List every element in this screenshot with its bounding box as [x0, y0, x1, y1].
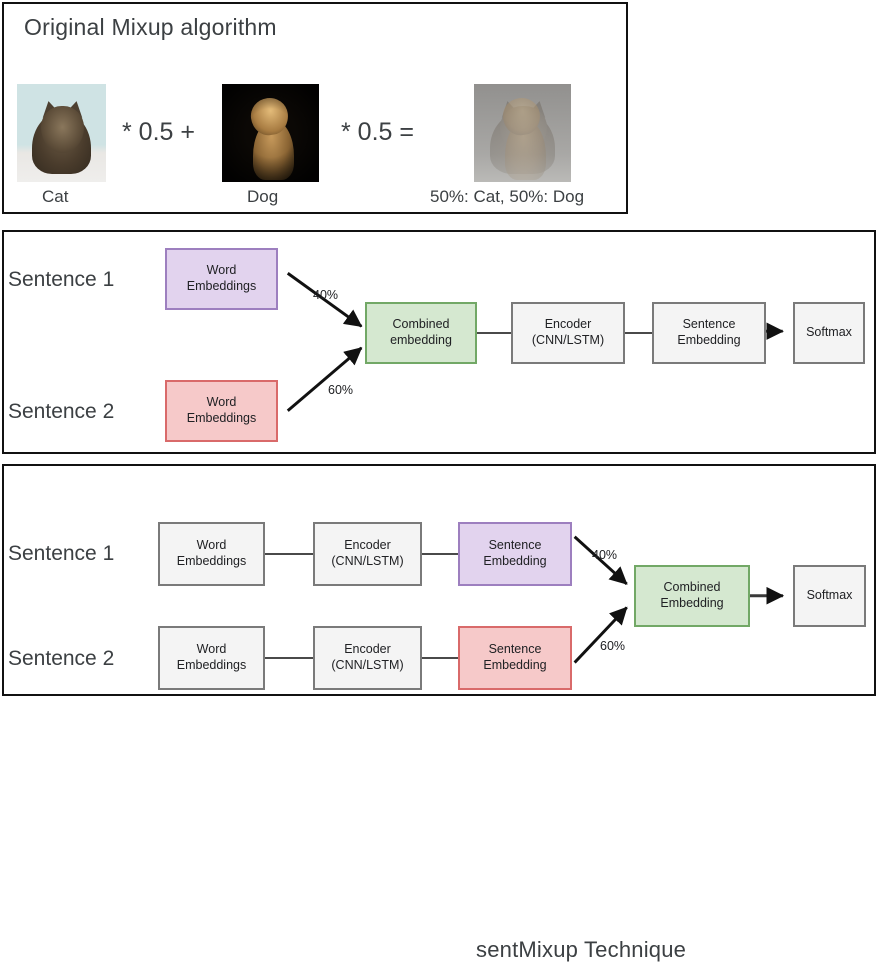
cat-image: [17, 84, 106, 182]
sent-sentence-embedding-box-2[interactable]: SentenceEmbedding: [458, 626, 572, 690]
word-embeddings-box-1[interactable]: WordEmbeddings: [165, 248, 278, 310]
sent-connector-enc2-se2: [422, 657, 458, 659]
combined-embedding-box[interactable]: Combinedembedding: [365, 302, 477, 364]
multiply-add-operator: * 0.5 +: [122, 118, 195, 147]
page-title: Original Mixup algorithm: [24, 14, 277, 41]
mixed-haze-overlay: [474, 84, 571, 182]
word-weight-1-label: 40%: [313, 288, 338, 302]
sent-softmax-box[interactable]: Softmax: [793, 565, 866, 627]
word-sentence-1-label: Sentence 1: [8, 268, 114, 292]
mixed-caption: 50%: Cat, 50%: Dog: [430, 187, 584, 207]
word-weight-2-label: 60%: [328, 383, 353, 397]
encoder-box[interactable]: Encoder(CNN/LSTM): [511, 302, 625, 364]
sent-weight-1-label: 40%: [592, 548, 617, 562]
dog-vignette: [222, 84, 319, 182]
sent-weight-2-label: 60%: [600, 639, 625, 653]
sent-encoder-box-1[interactable]: Encoder(CNN/LSTM): [313, 522, 422, 586]
mixed-image: [474, 84, 571, 182]
cat-head-shape: [41, 106, 84, 153]
sent-sentence-2-label: Sentence 2: [8, 647, 114, 671]
word-sentence-2-label: Sentence 2: [8, 400, 114, 424]
word-embeddings-box-2[interactable]: WordEmbeddings: [165, 380, 278, 442]
dog-caption: Dog: [247, 187, 278, 207]
sent-mixup-title: sentMixup Technique: [476, 937, 686, 963]
multiply-equals-operator: * 0.5 =: [341, 118, 414, 147]
original-mixup-panel: Original Mixup algorithm * 0.5 + * 0.5 =…: [2, 2, 628, 214]
sent-word-embeddings-box-1[interactable]: WordEmbeddings: [158, 522, 265, 586]
cat-caption: Cat: [42, 187, 68, 207]
word-connector-encoder-sentence: [625, 332, 652, 334]
word-connector-combined-encoder: [477, 332, 511, 334]
sent-connector-we1-enc1: [265, 553, 313, 555]
sent-sentence-1-label: Sentence 1: [8, 542, 114, 566]
softmax-box[interactable]: Softmax: [793, 302, 865, 364]
sentence-embedding-box[interactable]: SentenceEmbedding: [652, 302, 766, 364]
sent-connector-enc1-se1: [422, 553, 458, 555]
sent-combined-embedding-box[interactable]: CombinedEmbedding: [634, 565, 750, 627]
sent-encoder-box-2[interactable]: Encoder(CNN/LSTM): [313, 626, 422, 690]
sent-connector-we2-enc2: [265, 657, 313, 659]
sent-sentence-embedding-box-1[interactable]: SentenceEmbedding: [458, 522, 572, 586]
sent-word-embeddings-box-2[interactable]: WordEmbeddings: [158, 626, 265, 690]
dog-image: [222, 84, 319, 182]
